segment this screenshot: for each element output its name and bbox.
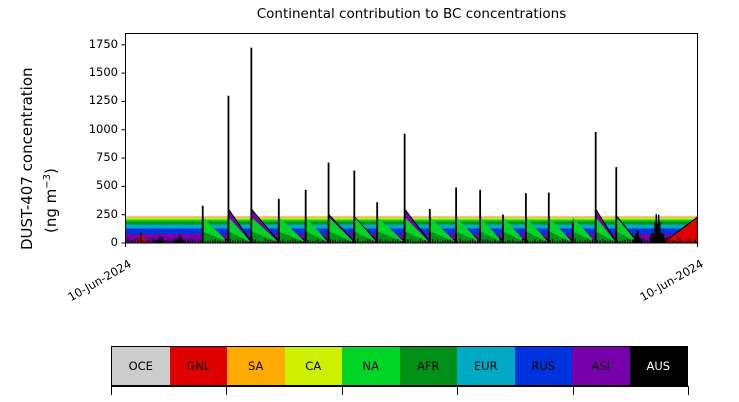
y-axis-label-line2: (ng m−3) bbox=[42, 168, 60, 233]
baseline-band bbox=[126, 216, 698, 217]
legend-item-label: ASI bbox=[591, 359, 610, 373]
legend-tick bbox=[226, 386, 227, 395]
y-axis-label-line1: DUST-407 concentration bbox=[18, 67, 36, 250]
legend-item-rus[interactable]: RUS bbox=[515, 347, 573, 385]
y-tick-label: 0 bbox=[66, 235, 118, 249]
plot-data-layer bbox=[126, 48, 698, 243]
y-tick-label: 1250 bbox=[66, 93, 118, 107]
legend-item-sa[interactable]: SA bbox=[227, 347, 285, 385]
legend-item-aus[interactable]: AUS bbox=[630, 347, 688, 385]
legend-item-eur[interactable]: EUR bbox=[457, 347, 515, 385]
legend-baseline bbox=[111, 386, 688, 387]
legend-item-label: OCE bbox=[129, 359, 153, 373]
legend-item-label: CA bbox=[305, 359, 321, 373]
legend-item-asi[interactable]: ASI bbox=[572, 347, 630, 385]
y-tick-label: 1750 bbox=[66, 37, 118, 51]
legend-item-ca[interactable]: CA bbox=[285, 347, 343, 385]
legend-item-na[interactable]: NA bbox=[342, 347, 400, 385]
plot-frame bbox=[126, 34, 698, 244]
legend-item-gnl[interactable]: GNL bbox=[170, 347, 228, 385]
legend-tick-marks bbox=[111, 386, 688, 400]
legend-item-label: GNL bbox=[186, 359, 210, 373]
y-axis-units-close: ) bbox=[42, 168, 60, 174]
legend-item-label: AUS bbox=[646, 359, 670, 373]
y-tick-label: 1000 bbox=[66, 122, 118, 136]
legend-item-label: AFR bbox=[417, 359, 439, 373]
y-axis-units: (ng m bbox=[42, 189, 60, 233]
chart-title: Continental contribution to BC concentra… bbox=[125, 6, 698, 22]
y-tick-label: 500 bbox=[66, 178, 118, 192]
y-axis-units-exponent: −3 bbox=[42, 174, 53, 189]
legend-tick bbox=[342, 386, 343, 395]
legend-tick bbox=[457, 386, 458, 395]
y-tick-label: 750 bbox=[66, 150, 118, 164]
y-tick-label: 1500 bbox=[66, 65, 118, 79]
legend-tick bbox=[111, 386, 112, 395]
legend-item-label: RUS bbox=[531, 359, 555, 373]
legend-item-label: EUR bbox=[474, 359, 498, 373]
legend-tick bbox=[688, 386, 689, 395]
legend-item-label: NA bbox=[363, 359, 379, 373]
y-tick-marks bbox=[122, 45, 126, 243]
y-tick-label: 250 bbox=[66, 207, 118, 221]
y-tick-labels: 17501500125010007505002500 bbox=[66, 0, 118, 402]
legend-item-oce[interactable]: OCE bbox=[112, 347, 170, 385]
legend-tick bbox=[573, 386, 574, 395]
legend-item-label: SA bbox=[248, 359, 263, 373]
continent-color-legend[interactable]: OCEGNLSACANAAFREURRUSASIAUS bbox=[111, 346, 688, 386]
plot-frame-overlay bbox=[126, 34, 698, 244]
x-tick-marks bbox=[126, 243, 698, 247]
legend-item-afr[interactable]: AFR bbox=[400, 347, 458, 385]
